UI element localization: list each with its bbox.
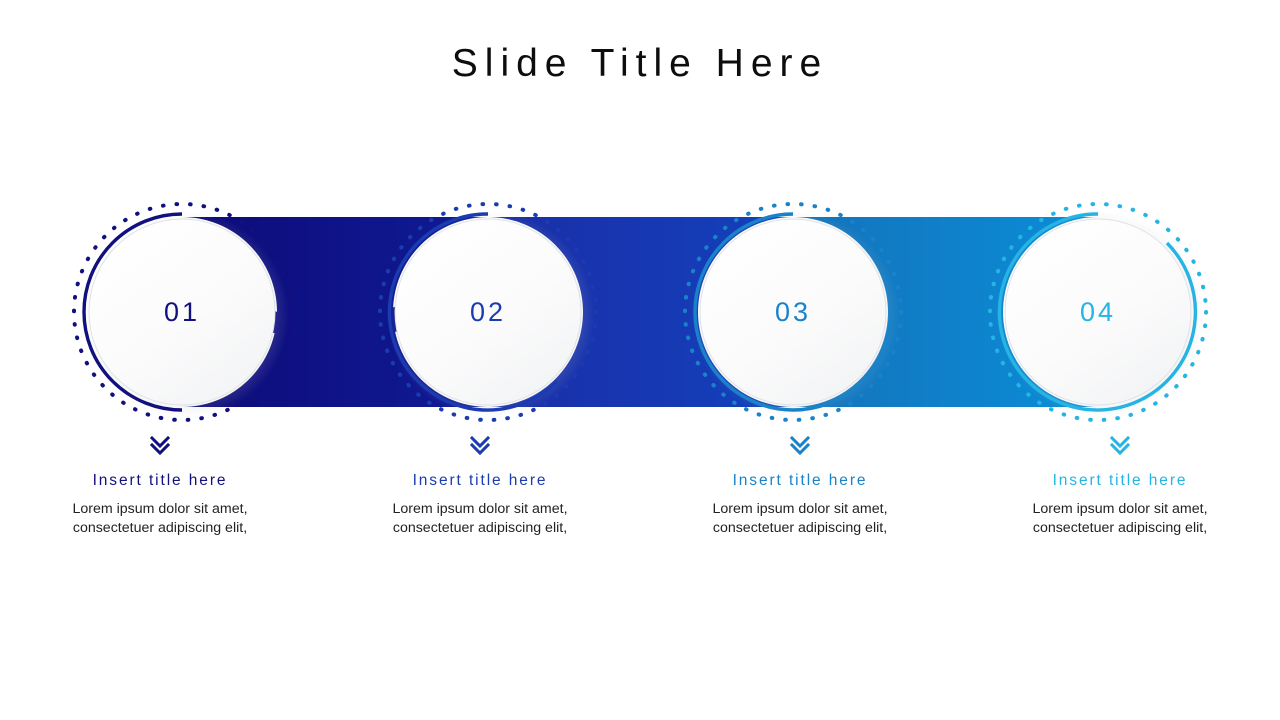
double-chevron-down-icon: [1107, 432, 1133, 458]
double-chevron-down-icon: [467, 432, 493, 458]
caption-01-title: Insert title here: [93, 472, 228, 490]
double-chevron-down-icon: [147, 432, 173, 458]
caption-02: Insert title here Lorem ipsum dolor sit …: [320, 432, 640, 592]
caption-02-body: Lorem ipsum dolor sit amet, consectetuer…: [385, 500, 575, 537]
caption-03-body: Lorem ipsum dolor sit amet, consectetuer…: [705, 500, 895, 537]
process-diagram: 01 02 03: [0, 175, 1280, 440]
connector-shapes: [182, 217, 1098, 407]
step-01-number: 01: [164, 297, 200, 327]
diagram-svg: 01 02 03: [0, 175, 1280, 440]
page-title: Slide Title Here: [0, 42, 1280, 86]
caption-01-body: Lorem ipsum dolor sit amet, consectetuer…: [65, 500, 255, 537]
step-04-number: 04: [1080, 297, 1116, 327]
caption-01: Insert title here Lorem ipsum dolor sit …: [0, 432, 320, 592]
double-chevron-down-icon: [787, 432, 813, 458]
caption-02-title: Insert title here: [413, 472, 548, 490]
slide-canvas: Slide Title Here: [0, 0, 1280, 720]
caption-03: Insert title here Lorem ipsum dolor sit …: [640, 432, 960, 592]
caption-03-title: Insert title here: [733, 472, 868, 490]
step-03-number: 03: [775, 297, 811, 327]
caption-04-body: Lorem ipsum dolor sit amet, consectetuer…: [1025, 500, 1215, 537]
caption-04-title: Insert title here: [1053, 472, 1188, 490]
caption-row: Insert title here Lorem ipsum dolor sit …: [0, 432, 1280, 592]
step-02-number: 02: [470, 297, 506, 327]
caption-04: Insert title here Lorem ipsum dolor sit …: [960, 432, 1280, 592]
